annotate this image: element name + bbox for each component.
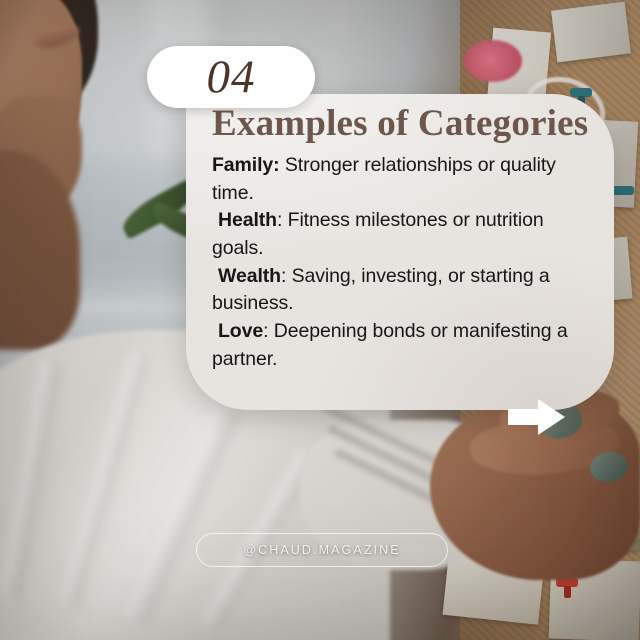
list-item: Love: Deepening bonds or manifesting a p… (212, 318, 596, 373)
slide-number-badge: 04 (147, 46, 315, 108)
pinned-photo (551, 2, 631, 63)
content-card: Examples of Categories Family: Stronger … (186, 94, 614, 410)
list-item-label: Love (218, 320, 263, 342)
arrow-right-icon[interactable] (508, 398, 566, 436)
list-item: Wealth: Saving, investing, or starting a… (212, 263, 596, 318)
pink-scrunchie (464, 40, 522, 82)
list-item: Health: Fitness milestones or nutrition … (212, 207, 596, 262)
category-list: Family: Stronger relationships or qualit… (212, 152, 596, 374)
list-item: Family: Stronger relationships or qualit… (212, 152, 596, 207)
list-item-text: : Deepening bonds or manifesting a partn… (212, 320, 568, 370)
page-title: Examples of Categories (212, 104, 596, 144)
slide-number: 04 (207, 54, 256, 101)
slide-canvas: Examples of Categories Family: Stronger … (0, 0, 640, 640)
list-item-label: Family: (212, 154, 280, 176)
pushpin-icon (612, 186, 634, 195)
list-item-label: Wealth (218, 265, 281, 287)
list-item-label: Health (218, 209, 277, 231)
account-handle-label: @CHAUD.MAGAZINE (243, 543, 400, 557)
account-handle-pill[interactable]: @CHAUD.MAGAZINE (196, 533, 448, 567)
card-content: Examples of Categories Family: Stronger … (186, 94, 614, 373)
pushpin-stem (564, 586, 571, 598)
